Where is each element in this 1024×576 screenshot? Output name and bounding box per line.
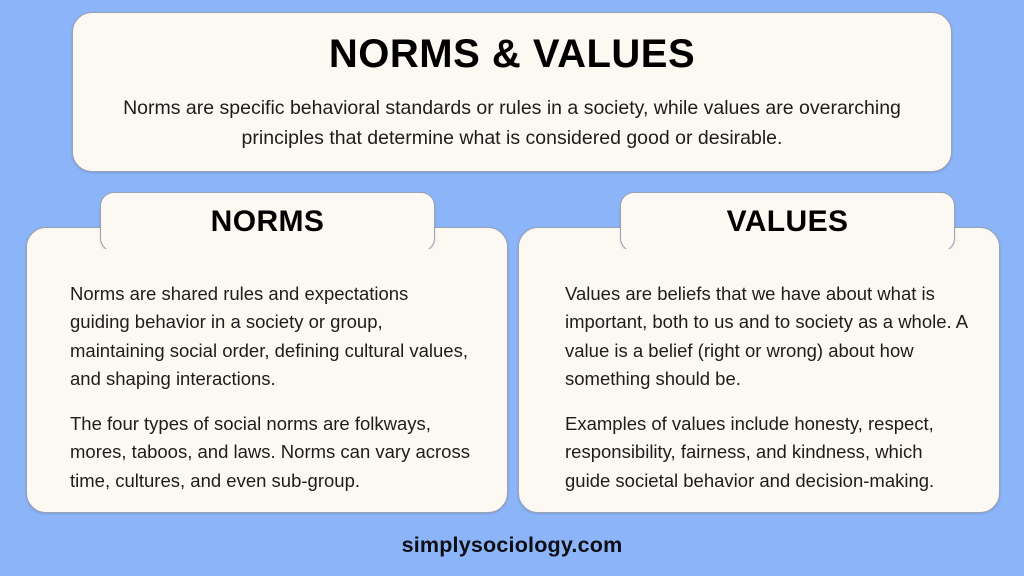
values-card: Values are beliefs that we have about wh… [518, 227, 1000, 513]
values-paragraph: Values are beliefs that we have about wh… [565, 280, 969, 393]
infographic-stage: NORMS & VALUES Norms are specific behavi… [0, 0, 1024, 576]
header-subtitle: Norms are specific behavioral standards … [107, 94, 917, 153]
norms-card: Norms are shared rules and expectations … [26, 227, 508, 513]
values-tab-seam [623, 249, 952, 256]
values-paragraph: Examples of values include honesty, resp… [565, 410, 969, 495]
norms-body: Norms are shared rules and expectations … [49, 280, 485, 495]
norms-tab-label: NORMS [211, 207, 325, 237]
page-title: NORMS & VALUES [329, 31, 695, 78]
norms-tab-seam [103, 249, 432, 256]
footer-brand: simplysociology.com [0, 533, 1024, 558]
header-card: NORMS & VALUES Norms are specific behavi… [72, 12, 952, 172]
norms-paragraph: The four types of social norms are folkw… [70, 410, 473, 495]
values-tab-label: VALUES [727, 207, 849, 237]
values-tab: VALUES [620, 192, 955, 252]
norms-tab: NORMS [100, 192, 435, 252]
values-body: Values are beliefs that we have about wh… [541, 280, 977, 495]
norms-paragraph: Norms are shared rules and expectations … [70, 280, 473, 393]
